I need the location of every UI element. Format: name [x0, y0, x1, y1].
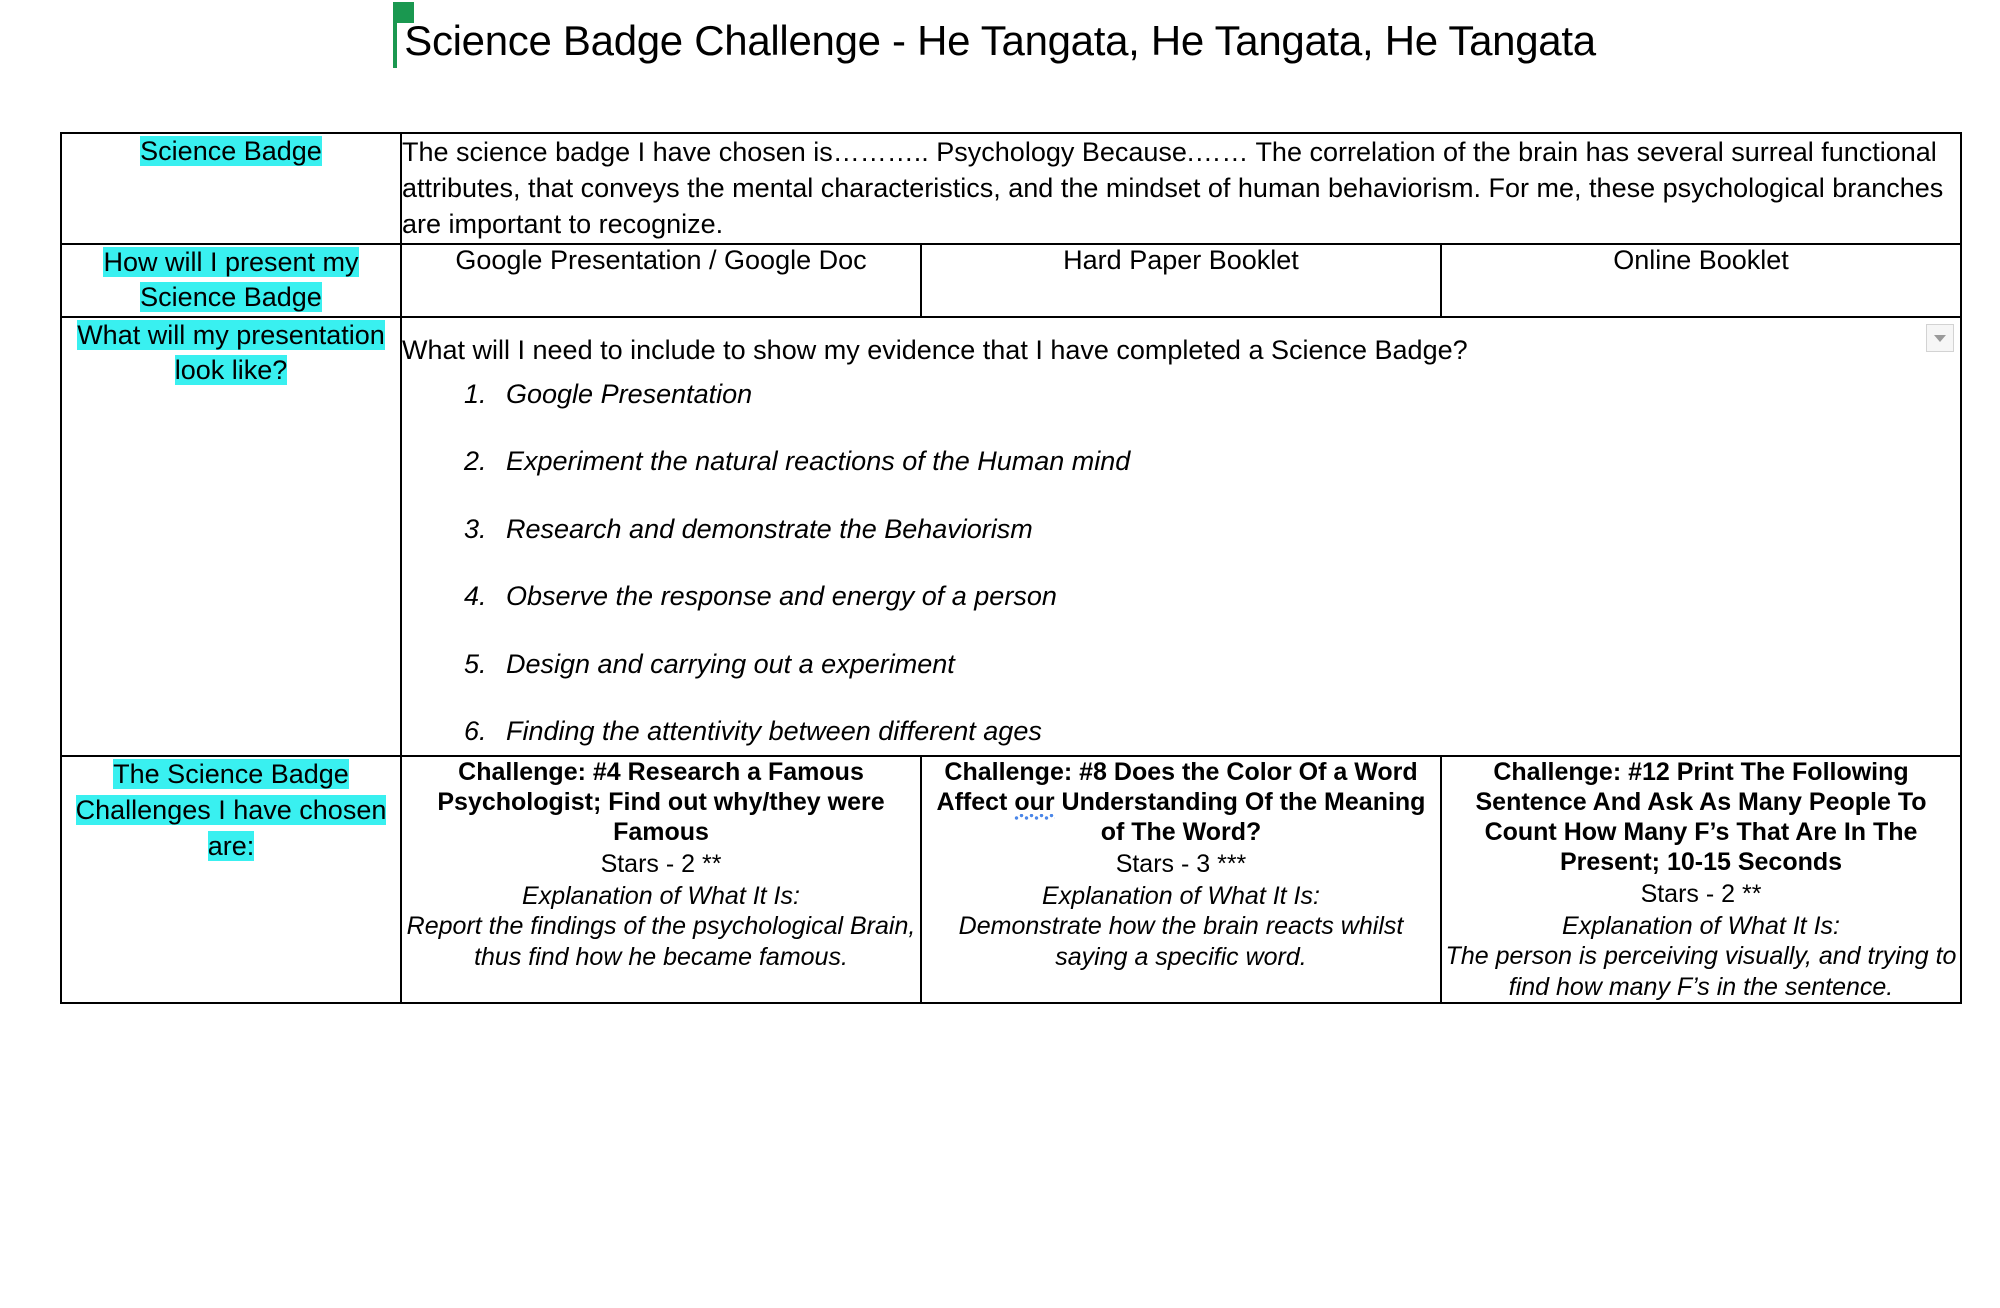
list-item: Experiment the natural reactions of the …: [494, 445, 1960, 477]
row-label-text: How will I present my Science Badge: [103, 247, 358, 313]
option-hard-paper-booklet[interactable]: Hard Paper Booklet: [921, 244, 1441, 317]
science-badge-description-cell[interactable]: The science badge I have chosen is……….. …: [401, 133, 1961, 244]
challenge-explanation: The person is perceiving visually, and t…: [1442, 941, 1960, 1002]
row-label-text: What will my presentation look like?: [77, 320, 385, 386]
row-label-text: Science Badge: [140, 136, 322, 166]
list-item: Observe the response and energy of a per…: [494, 580, 1960, 612]
challenge-title-text-cont: Understanding Of the Meaning of The Word…: [1055, 788, 1426, 846]
challenge-card-8[interactable]: Challenge: #8 Does the Color Of a Word A…: [921, 756, 1441, 1003]
list-item: Design and carrying out a experiment: [494, 648, 1960, 680]
challenge-title: Challenge: #8 Does the Color Of a Word A…: [922, 757, 1440, 847]
option-label: Google Presentation / Google Doc: [455, 245, 866, 275]
challenge-title: Challenge: #12 Print The Following Sente…: [1442, 757, 1960, 877]
challenge-title-text: Challenge: #12 Print The Following Sente…: [1475, 758, 1926, 876]
challenge-stars: Stars - 3 ***: [922, 849, 1440, 880]
collaborator-cursor-icon: [393, 12, 397, 68]
option-label: Online Booklet: [1613, 245, 1789, 275]
row-label-science-badge: Science Badge: [61, 133, 401, 244]
challenge-explanation-label: Explanation of What It Is:: [922, 881, 1440, 912]
challenge-card-4[interactable]: Challenge: #4 Research a Famous Psycholo…: [401, 756, 921, 1003]
list-item: Research and demonstrate the Behaviorism: [494, 513, 1960, 545]
evidence-list: Google Presentation Experiment the natur…: [402, 378, 1960, 747]
list-item: Finding the attentivity between differen…: [494, 715, 1960, 747]
list-item: Google Presentation: [494, 378, 1960, 410]
challenge-title: Challenge: #4 Research a Famous Psycholo…: [402, 757, 920, 847]
row-label-text: The Science Badge Challenges I have chos…: [76, 759, 387, 860]
table-row-presentation-format: How will I present my Science Badge Goog…: [61, 244, 1961, 317]
challenge-explanation: Demonstrate how the brain reacts whilst …: [922, 911, 1440, 972]
challenge-explanation: Report the findings of the psychological…: [402, 911, 920, 972]
option-label: Hard Paper Booklet: [1063, 245, 1299, 275]
evidence-question: What will I need to include to show my e…: [402, 318, 1960, 378]
challenge-card-12[interactable]: Challenge: #12 Print The Following Sente…: [1441, 756, 1961, 1003]
option-google-presentation[interactable]: Google Presentation / Google Doc: [401, 244, 921, 317]
row-label-presentation-look: What will my presentation look like?: [61, 317, 401, 757]
row-label-how-will-i-present: How will I present my Science Badge: [61, 244, 401, 317]
chevron-down-icon[interactable]: [1926, 324, 1954, 352]
science-badge-table: Science Badge The science badge I have c…: [60, 132, 1962, 1004]
challenge-stars: Stars - 2 **: [402, 849, 920, 880]
table-row-challenges: The Science Badge Challenges I have chos…: [61, 756, 1961, 1003]
evidence-requirements-cell[interactable]: What will I need to include to show my e…: [401, 317, 1961, 757]
challenge-explanation-label: Explanation of What It Is:: [1442, 911, 1960, 942]
science-badge-description: The science badge I have chosen is……….. …: [402, 137, 1943, 239]
page-title: Science Badge Challenge - He Tangata, He…: [404, 18, 1596, 64]
document-title-bar: Science Badge Challenge - He Tangata, He…: [0, 0, 2000, 82]
challenge-title-text: Challenge: #4 Research a Famous Psycholo…: [437, 758, 884, 846]
table-row-presentation-content: What will my presentation look like? Wha…: [61, 317, 1961, 757]
row-label-challenges-chosen: The Science Badge Challenges I have chos…: [61, 756, 401, 1003]
option-online-booklet[interactable]: Online Booklet: [1441, 244, 1961, 317]
table-row-science-badge: Science Badge The science badge I have c…: [61, 133, 1961, 244]
challenge-stars: Stars - 2 **: [1442, 879, 1960, 910]
spellcheck-word: our: [1014, 788, 1054, 823]
challenge-explanation-label: Explanation of What It Is:: [402, 881, 920, 912]
